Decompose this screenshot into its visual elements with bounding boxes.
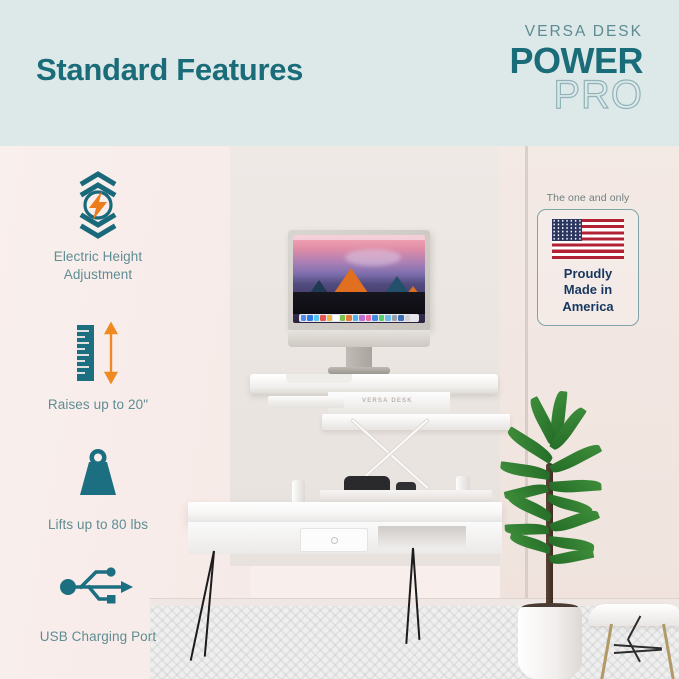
dock-icon-messages [372, 315, 377, 320]
feature-lifts-up-to-80-lbs: Lifts up to 80 lbs [0, 438, 196, 534]
feature-label-line-2: Adjustment [64, 267, 133, 282]
riser-brand-label: VERSA DESK [362, 398, 413, 404]
product-infographic: Standard Features VERSA DESK POWER PRO [0, 0, 679, 679]
desk-drawer-pull-icon [331, 537, 338, 544]
brand-name-versa-desk: VERSA DESK [507, 24, 643, 40]
dock-icon-trash [405, 315, 410, 320]
dock-icon-photos [359, 315, 364, 320]
usb-icon [55, 561, 141, 609]
dock-icon-settings [392, 315, 397, 320]
eames-style-chair [588, 604, 679, 679]
made-in-america-badge: The one and only Proudly Made in America [537, 192, 639, 326]
badge-caption-line-2: Made in [564, 282, 612, 297]
brand-logo: VERSA DESK POWER PRO [507, 24, 643, 114]
keyboard-tray [268, 396, 344, 408]
flag-canton-stars [552, 219, 582, 241]
monitor-stand-neck [346, 347, 372, 367]
monitor-screen-wallpaper [293, 235, 425, 323]
badge-caption-line-3: America [562, 299, 613, 314]
riser-base-frame [320, 490, 492, 502]
feature-usb-charging-port: USB Charging Port [0, 550, 196, 646]
dock-icon-safari [314, 315, 319, 320]
wallpaper-foreground [293, 292, 425, 314]
dock-icon-reminders [346, 315, 351, 320]
badge-caption-line-1: Proudly [564, 266, 612, 281]
dock-icon-music [366, 315, 371, 320]
dock-icon-launchpad [307, 315, 312, 320]
wallpaper-clouds [345, 249, 401, 266]
imac-monitor [288, 230, 430, 374]
riser-monitor-notch [286, 374, 352, 383]
icon-container [0, 550, 196, 620]
monitor-chin [288, 330, 430, 347]
macos-dock [299, 314, 419, 322]
chair-wire-brace [614, 649, 662, 654]
plant-leaf [499, 461, 550, 480]
feature-label: Lifts up to 80 lbs [0, 516, 196, 534]
ruler-arrow-icon [67, 321, 129, 385]
electric-height-adjustment-icon [72, 170, 124, 240]
dock-icon-mail [320, 315, 325, 320]
plant-leaf [549, 478, 602, 494]
dock-icon-calendar [333, 315, 338, 320]
monitor-stand-foot [328, 367, 390, 374]
monitor-bezel [288, 230, 430, 330]
dock-icon-facetime [379, 315, 384, 320]
chair-leg-left [600, 624, 613, 679]
dock-icon-contacts [327, 315, 332, 320]
chair-seat [588, 604, 679, 626]
brand-word-pro: PRO [507, 76, 643, 114]
icon-container [0, 318, 196, 388]
weight-icon [69, 445, 127, 501]
icon-container [0, 170, 196, 240]
badge-kicker-text: The one and only [537, 192, 639, 204]
feature-label: Electric Height Adjustment [0, 248, 196, 284]
icon-container [0, 438, 196, 508]
dock-icon-appstore [385, 315, 390, 320]
plant-pot [518, 607, 582, 679]
dock-icon-finder-2 [398, 315, 403, 320]
feature-label-line-1: Electric Height [54, 249, 143, 264]
feature-electric-height-adjustment: Electric Height Adjustment [0, 170, 196, 284]
dock-icon-notes [340, 315, 345, 320]
desk-open-shelf [378, 526, 466, 548]
screen-menubar [293, 235, 425, 240]
badge-caption: Proudly Made in America [545, 266, 631, 315]
chair-leg-right [662, 624, 675, 679]
us-flag-icon [552, 219, 624, 259]
dock-icon-finder [301, 315, 306, 320]
page-title: Standard Features [36, 52, 303, 88]
badge-box: Proudly Made in America [537, 209, 639, 326]
desk-surface [188, 502, 502, 524]
product-photo-scene: VERSA DESK [0, 146, 679, 679]
feature-raises-up-to-20-inches: Raises up to 20" [0, 318, 196, 414]
plant-leaf [549, 547, 594, 567]
feature-label: Raises up to 20" [0, 396, 196, 414]
feature-label: USB Charging Port [0, 628, 196, 646]
dock-icon-maps [353, 315, 358, 320]
